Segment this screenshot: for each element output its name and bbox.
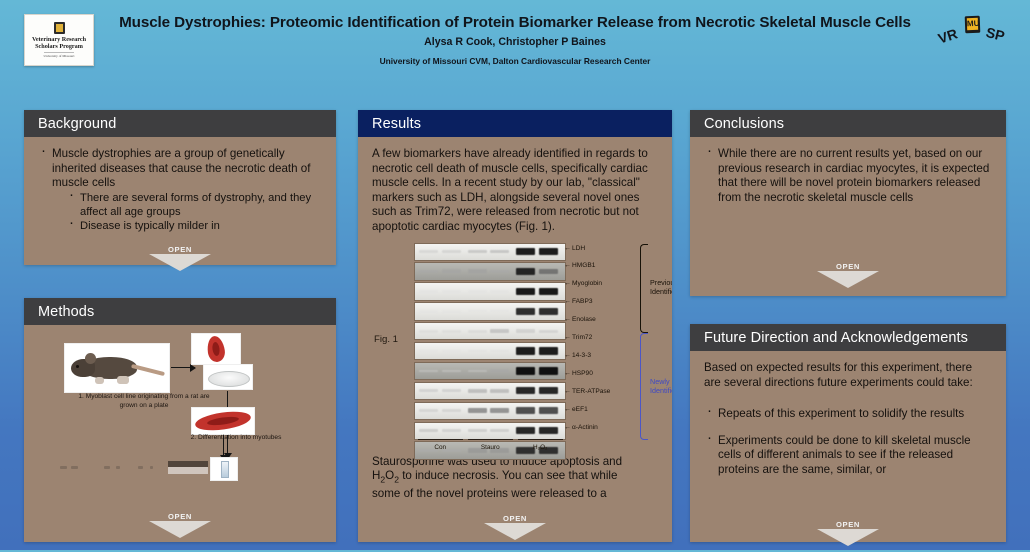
blot-band xyxy=(490,350,509,353)
blot-band xyxy=(419,330,438,333)
blot-band xyxy=(539,347,558,354)
panel-background[interactable]: Background Muscle dystrophies are a grou… xyxy=(24,110,336,265)
bracket-new-line2: Identified xyxy=(650,386,672,395)
blot-band xyxy=(490,369,509,373)
vrsp-mu-logo-left: VR xyxy=(936,25,959,46)
background-sub-1: Disease is typically milder in xyxy=(80,220,220,232)
lane-underline xyxy=(418,439,463,440)
panel-methods-title: Methods xyxy=(38,304,94,320)
blot-band xyxy=(490,270,509,274)
conclusions-bullet-0: While there are no current results yet, … xyxy=(718,147,989,204)
list-item: While there are no current results yet, … xyxy=(704,147,992,205)
blot-band xyxy=(490,250,509,254)
blot-band xyxy=(419,370,438,373)
blot-band xyxy=(539,288,558,295)
vrsp-logo: Veterinary Research Scholars Program Uni… xyxy=(24,14,94,66)
poster-header: Veterinary Research Scholars Program Uni… xyxy=(0,0,1030,92)
list-item: There are several forms of dystrophy, an… xyxy=(66,191,322,219)
blot-protein-label: LDH xyxy=(572,245,585,253)
results-outro-line3: some of the novel proteins were released… xyxy=(372,487,607,500)
blot-band xyxy=(419,250,438,253)
blot-band xyxy=(539,407,558,414)
blot-band xyxy=(516,288,535,295)
results-open-button[interactable]: OPEN xyxy=(483,514,547,540)
background-sub-0: There are several forms of dystrophy, an… xyxy=(80,192,311,218)
myoblast-shape xyxy=(206,335,226,363)
background-open-label: OPEN xyxy=(148,245,212,254)
blot-band xyxy=(468,330,487,333)
blot-row xyxy=(414,282,566,300)
blot-row xyxy=(414,342,566,360)
rat-leg-shape xyxy=(117,376,129,384)
myotube-image xyxy=(191,407,255,435)
future-bullet-0: Repeats of this experiment to solidify t… xyxy=(718,407,964,420)
arrow-myotube-to-tube-icon xyxy=(223,435,224,455)
future-open-label: OPEN xyxy=(816,520,880,529)
blot-band xyxy=(468,389,487,393)
rat-photo xyxy=(64,343,170,393)
blot-band xyxy=(516,248,535,255)
blot-band xyxy=(516,407,535,414)
bracket-previously-identified xyxy=(640,244,648,334)
blot-band xyxy=(516,308,535,315)
blot-band xyxy=(442,310,461,313)
background-open-button[interactable]: OPEN xyxy=(148,245,212,271)
panel-methods-body: 1. Myoblast cell line originating from a… xyxy=(24,325,336,546)
blot-protein-label: eEF1 xyxy=(572,406,588,414)
blot-protein-label: TER-ATPase xyxy=(572,388,610,396)
plate-shape xyxy=(208,371,250,387)
future-intro-text: Based on expected results for this exper… xyxy=(704,361,992,390)
list-item: Muscle dystrophies are a group of geneti… xyxy=(38,147,322,233)
panel-future-direction[interactable]: Future Direction and Acknowledgements Ba… xyxy=(690,324,1006,542)
blot-band xyxy=(468,350,487,353)
blot-band xyxy=(539,269,558,275)
blot-band xyxy=(516,329,535,332)
poster-canvas: Veterinary Research Scholars Program Uni… xyxy=(0,0,1030,550)
blot-band xyxy=(516,268,535,275)
results-outro-line2: to induce necrosis. You can see that whi… xyxy=(399,469,618,482)
bracket-prev-line1: Previously xyxy=(650,278,672,287)
lane-label: Stauro xyxy=(468,441,513,456)
bracket-newly-identified xyxy=(640,333,648,440)
blot-band xyxy=(442,429,461,432)
list-item: Repeats of this experiment to solidify t… xyxy=(704,407,992,422)
gel-strip-thumb xyxy=(168,461,208,474)
results-outro-o: O xyxy=(385,469,394,482)
list-item: Experiments could be done to kill skelet… xyxy=(704,434,992,478)
blot-row xyxy=(414,362,566,380)
future-bullet-list: Repeats of this experiment to solidify t… xyxy=(704,407,992,477)
blot-band xyxy=(490,329,509,333)
methods-cutoff-row xyxy=(60,461,208,475)
blot-band xyxy=(419,270,438,274)
conclusions-open-label: OPEN xyxy=(816,262,880,271)
panel-background-header: Background xyxy=(24,110,336,137)
results-outro-text: Staurosporine was used to induce apoptos… xyxy=(372,455,658,502)
myoblast-cell-image xyxy=(191,333,241,365)
blot-row xyxy=(414,422,566,440)
blot-protein-label: Trim72 xyxy=(572,334,592,342)
results-intro-text: A few biomarkers have already identified… xyxy=(372,147,658,235)
blot-band xyxy=(468,250,487,254)
future-bullet-1: Experiments could be done to kill skelet… xyxy=(718,434,971,476)
blot-band xyxy=(490,310,509,313)
blot-protein-label: α-Actinin xyxy=(572,424,598,432)
blot-band xyxy=(539,330,558,333)
blot-band xyxy=(468,370,487,373)
vrsp-mu-logo-right: SP xyxy=(984,24,1006,44)
blot-band xyxy=(442,389,461,392)
panel-future-header: Future Direction and Acknowledgements xyxy=(690,324,1006,351)
blot-protein-label: FABP3 xyxy=(572,298,593,306)
chevron-down-icon xyxy=(817,271,879,288)
chevron-down-icon xyxy=(149,521,211,538)
methods-caption-2: 2. Differentiation into myotubes xyxy=(166,434,306,443)
chevron-down-icon xyxy=(484,523,546,540)
blot-band xyxy=(490,408,509,413)
blot-band xyxy=(539,367,558,375)
blot-protein-label: HSP90 xyxy=(572,370,593,378)
blot-band xyxy=(539,248,558,255)
blot-protein-label: 14-3-3 xyxy=(572,352,591,360)
blot-lane-labels: ConStauroH₂O₂ xyxy=(414,439,566,451)
blot-band xyxy=(539,308,558,315)
blot-band xyxy=(419,429,438,433)
panel-results-title: Results xyxy=(372,116,421,132)
future-open-button[interactable]: OPEN xyxy=(816,520,880,546)
bracket-new-line1: Newly xyxy=(650,377,670,386)
blot-band xyxy=(442,290,461,293)
blot-band xyxy=(442,330,461,333)
blot-row xyxy=(414,262,566,280)
panel-methods-header: Methods xyxy=(24,298,336,325)
blot-band xyxy=(539,427,558,434)
vrsp-logo-line3: University of Missouri xyxy=(44,52,75,58)
bracket-previously-label: PreviouslyIdentified xyxy=(650,278,672,296)
blot-band xyxy=(442,350,461,353)
blot-band xyxy=(468,429,487,433)
mu-logo-text: MU xyxy=(967,18,978,30)
blot-protein-label: Myoglobin xyxy=(572,280,602,288)
panel-results[interactable]: Results A few biomarkers have already id… xyxy=(358,110,672,542)
conclusions-open-button[interactable]: OPEN xyxy=(816,262,880,288)
panel-conclusions-body: While there are no current results yet, … xyxy=(690,137,1006,306)
figure-label: Fig. 1 xyxy=(374,333,398,348)
blot-band xyxy=(442,370,461,373)
blot-row xyxy=(414,302,566,320)
methods-workflow-figure: 1. Myoblast cell line originating from a… xyxy=(38,331,322,481)
panel-future-title: Future Direction and Acknowledgements xyxy=(704,330,968,346)
blot-band xyxy=(490,290,509,293)
crest-icon xyxy=(54,22,65,34)
blot-band xyxy=(468,290,487,293)
blot-band xyxy=(468,269,487,273)
blot-band xyxy=(419,409,438,412)
blot-row xyxy=(414,402,566,420)
panel-background-body: Muscle dystrophies are a group of geneti… xyxy=(24,137,336,275)
panel-methods[interactable]: Methods 1 xyxy=(24,298,336,542)
blot-band xyxy=(539,387,558,394)
poster-authors: Alysa R Cook, Christopher P Baines xyxy=(110,36,920,48)
panel-conclusions-header: Conclusions xyxy=(690,110,1006,137)
culture-plate-image xyxy=(203,364,253,390)
bracket-prev-line2: Identified xyxy=(650,287,672,296)
methods-open-button[interactable]: OPEN xyxy=(148,512,212,538)
background-bullet-0: Muscle dystrophies are a group of geneti… xyxy=(52,147,310,189)
figure-western-blot: Fig. 1 ConStauroH₂O₂ PreviouslyIdentifie… xyxy=(372,241,658,447)
lane-label: Con xyxy=(418,441,463,456)
sample-tube-image xyxy=(210,457,238,481)
blot-band xyxy=(419,350,438,353)
blot-band xyxy=(419,310,438,313)
blot-band xyxy=(442,409,461,412)
rat-eye-shape xyxy=(76,365,79,368)
panel-future-body: Based on expected results for this exper… xyxy=(690,351,1006,552)
lane-label: H₂O₂ xyxy=(518,441,563,456)
blot-row xyxy=(414,322,566,340)
chevron-down-icon xyxy=(817,529,879,546)
blot-row-container xyxy=(414,243,566,462)
poster-affiliation: University of Missouri CVM, Dalton Cardi… xyxy=(110,56,920,66)
chevron-down-icon xyxy=(149,254,211,271)
blot-band xyxy=(419,389,438,392)
blot-protein-label: Enolase xyxy=(572,316,596,324)
panel-conclusions[interactable]: Conclusions While there are no current r… xyxy=(690,110,1006,296)
list-item: Disease is typically milder in xyxy=(66,219,322,233)
blot-protein-label: HMGB1 xyxy=(572,262,595,270)
vrsp-mu-logo: VR MU SP xyxy=(938,14,1016,48)
rat-leg-shape xyxy=(95,377,104,384)
blot-band xyxy=(490,429,509,433)
blot-row xyxy=(414,243,566,261)
blot-band xyxy=(442,250,461,253)
blot-band xyxy=(442,269,461,273)
blot-band xyxy=(468,408,487,413)
poster-title: Muscle Dystrophies: Proteomic Identifica… xyxy=(110,14,920,31)
bracket-newly-label: NewlyIdentified xyxy=(650,377,672,395)
blot-band xyxy=(516,387,535,394)
panel-conclusions-title: Conclusions xyxy=(704,116,784,132)
myotube-shape xyxy=(194,409,252,434)
arrow-rat-to-cells-icon xyxy=(171,367,195,368)
blot-band xyxy=(468,310,487,313)
lane-underline xyxy=(468,439,513,440)
blot-row xyxy=(414,382,566,400)
panel-results-body: A few biomarkers have already identified… xyxy=(358,137,672,552)
vrsp-logo-line1: Veterinary Research xyxy=(32,36,86,43)
conclusions-bullet-list: While there are no current results yet, … xyxy=(704,147,992,205)
results-open-label: OPEN xyxy=(483,514,547,523)
methods-open-label: OPEN xyxy=(148,512,212,521)
blot-band xyxy=(516,347,535,354)
mu-tiger-icon: MU xyxy=(965,16,981,34)
panel-results-header: Results xyxy=(358,110,672,137)
vrsp-logo-line2: Scholars Program xyxy=(35,43,83,50)
blot-band xyxy=(490,389,509,393)
background-bullet-list: Muscle dystrophies are a group of geneti… xyxy=(38,147,322,233)
blot-band xyxy=(516,427,535,434)
rat-ear-shape xyxy=(85,353,96,364)
lane-underline xyxy=(518,439,563,440)
blot-band xyxy=(419,290,438,293)
background-sub-list: There are several forms of dystrophy, an… xyxy=(52,191,322,233)
panel-background-title: Background xyxy=(38,116,116,132)
tube-shape xyxy=(221,461,229,478)
blot-band xyxy=(516,367,535,375)
